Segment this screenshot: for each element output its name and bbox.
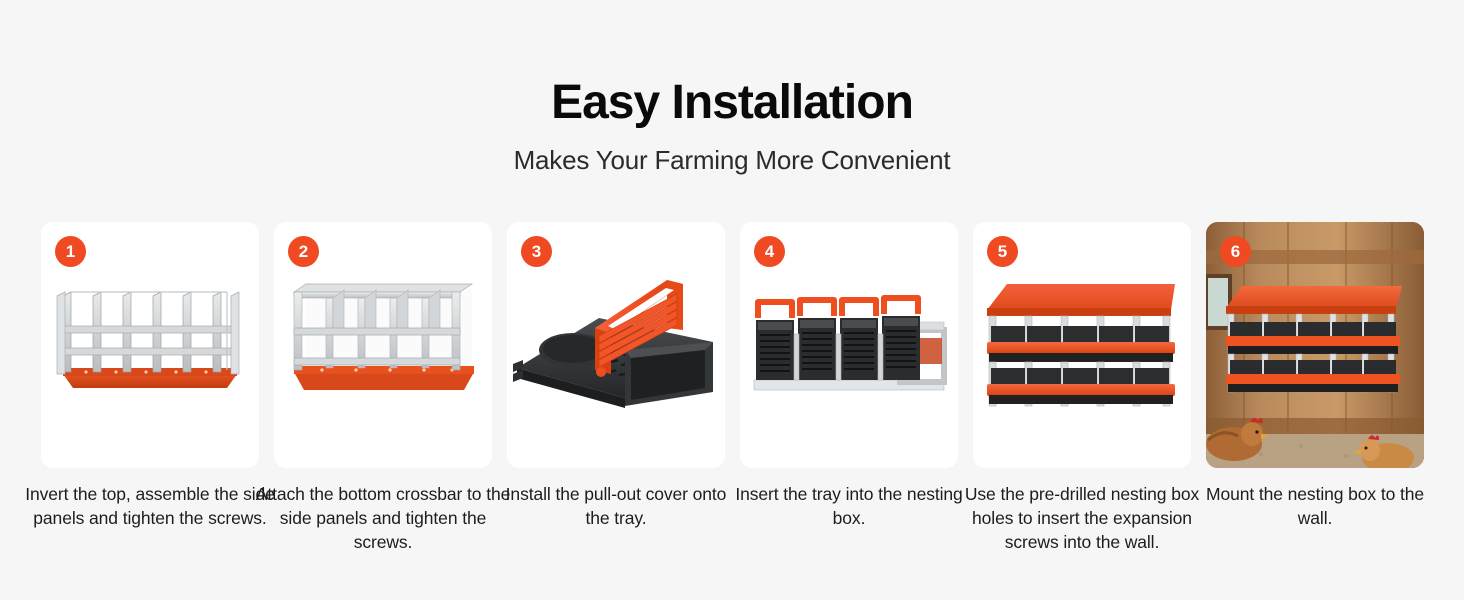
step-3-caption: Install the pull-out cover onto the tray… <box>496 483 736 531</box>
header: Easy Installation Makes Your Farming Mor… <box>0 0 1464 176</box>
step-4-badge: 4 <box>754 236 785 267</box>
infographic-page: Easy Installation Makes Your Farming Mor… <box>0 0 1464 600</box>
step-4-caption: Insert the tray into the nesting box. <box>729 483 969 531</box>
step-2-badge: 2 <box>288 236 319 267</box>
step-1-card: 1 <box>41 222 259 468</box>
step-2-caption: Attach the bottom crossbar to the side p… <box>253 483 513 555</box>
step-5-caption: Use the pre-drilled nesting box holes to… <box>952 483 1212 555</box>
step-1-badge: 1 <box>55 236 86 267</box>
step-4-card: 4 <box>740 222 958 468</box>
step-5: 5 <box>973 222 1191 555</box>
step-2: 2 <box>274 222 492 555</box>
step-3-badge: 3 <box>521 236 552 267</box>
step-6-caption: Mount the nesting box to the wall. <box>1195 483 1435 531</box>
step-6-card: 6 <box>1206 222 1424 468</box>
installation-steps: 1 <box>41 222 1424 555</box>
step-1-caption: Invert the top, assemble the side panels… <box>20 483 280 531</box>
step-3-card: 3 <box>507 222 725 468</box>
step-6-badge: 6 <box>1220 236 1251 267</box>
step-5-card: 5 <box>973 222 1191 468</box>
step-6: 6 <box>1206 222 1424 555</box>
page-title: Easy Installation <box>0 78 1464 128</box>
step-2-card: 2 <box>274 222 492 468</box>
step-5-badge: 5 <box>987 236 1018 267</box>
page-subtitle: Makes Your Farming More Convenient <box>0 145 1464 176</box>
step-3: 3 <box>507 222 725 555</box>
step-4: 4 <box>740 222 958 555</box>
step-1: 1 <box>41 222 259 555</box>
